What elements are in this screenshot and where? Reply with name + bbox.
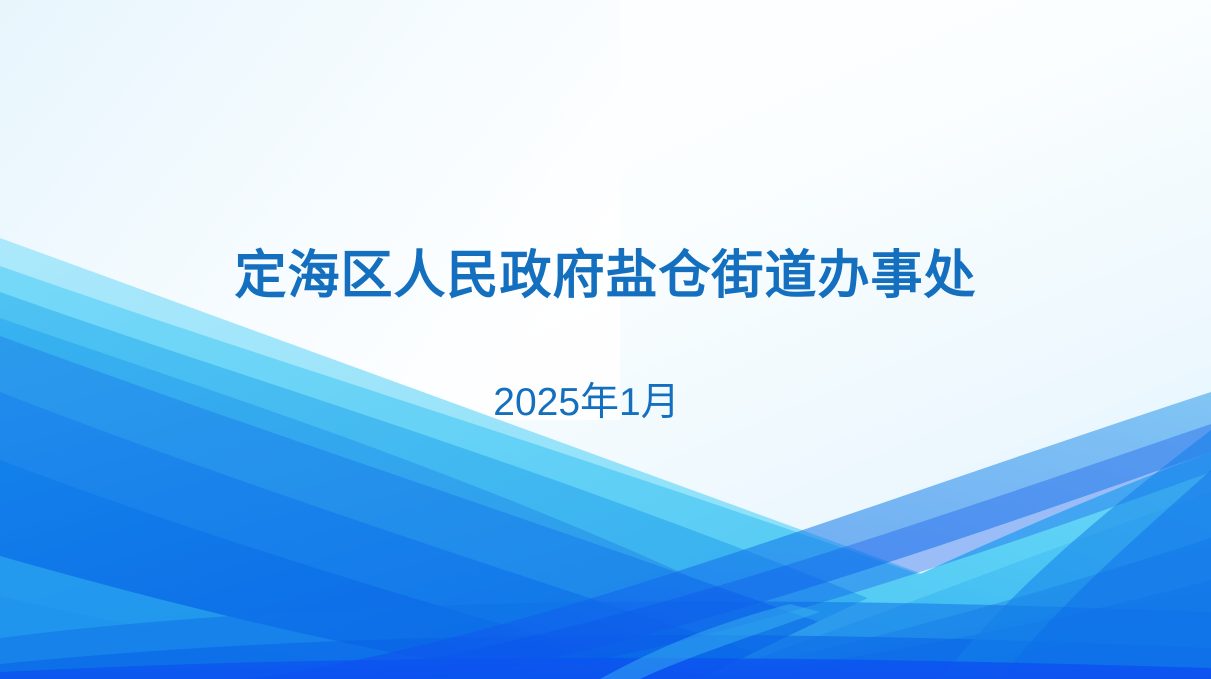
presentation-slide: 定海区人民政府盐仓街道办事处 2025年1月	[0, 0, 1211, 679]
abstract-blue-wave-background	[0, 0, 1211, 679]
